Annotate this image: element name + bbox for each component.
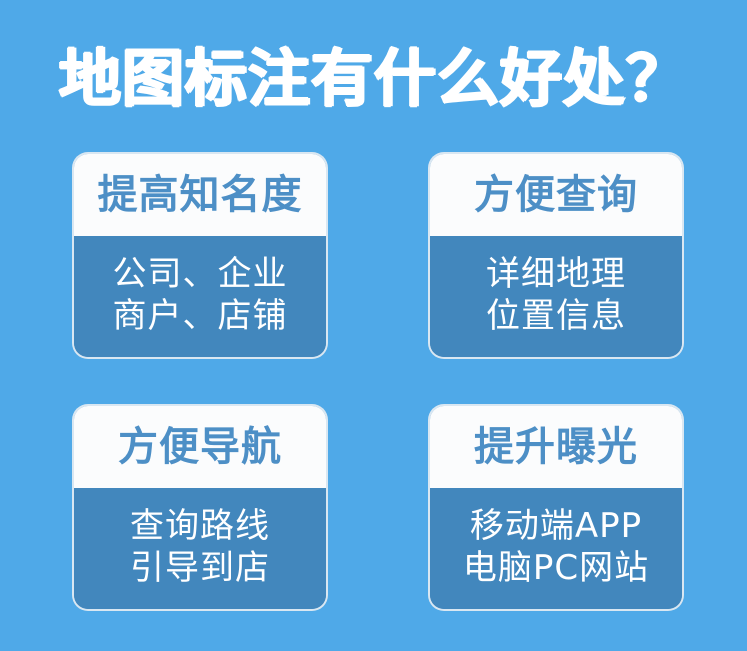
benefit-card-line: 电脑PC网站 xyxy=(463,547,649,589)
benefit-card-header: 提高知名度 xyxy=(74,154,326,236)
benefit-card-line: 公司、企业 xyxy=(113,253,288,295)
benefit-card-body: 查询路线 引导到店 xyxy=(74,488,326,609)
page-title: 地图标注有什么好处？ xyxy=(0,44,747,114)
benefit-card-easy-search[interactable]: 方便查询 详细地理 位置信息 xyxy=(428,152,684,359)
benefit-card-header: 提升曝光 xyxy=(430,406,682,488)
benefit-card-line: 查询路线 xyxy=(130,505,270,547)
benefit-card-line: 详细地理 xyxy=(486,253,626,295)
benefit-card-line: 引导到店 xyxy=(130,547,270,589)
benefit-card-body: 公司、企业 商户、店铺 xyxy=(74,236,326,357)
benefit-card-line: 位置信息 xyxy=(486,295,626,337)
promo-poster: 地图标注有什么好处？ 提高知名度 公司、企业 商户、店铺 方便查询 详细地理 位… xyxy=(0,0,747,651)
benefit-card-brand-awareness[interactable]: 提高知名度 公司、企业 商户、店铺 xyxy=(72,152,328,359)
benefit-card-easy-navigation[interactable]: 方便导航 查询路线 引导到店 xyxy=(72,404,328,611)
benefit-card-body: 移动端APP 电脑PC网站 xyxy=(430,488,682,609)
benefit-card-grid: 提高知名度 公司、企业 商户、店铺 方便查询 详细地理 位置信息 方便导航 查询… xyxy=(72,152,680,611)
benefit-card-body: 详细地理 位置信息 xyxy=(430,236,682,357)
benefit-card-line: 商户、店铺 xyxy=(113,295,288,337)
benefit-card-line: 移动端APP xyxy=(470,505,642,547)
benefit-card-header: 方便导航 xyxy=(74,406,326,488)
benefit-card-header: 方便查询 xyxy=(430,154,682,236)
benefit-card-more-exposure[interactable]: 提升曝光 移动端APP 电脑PC网站 xyxy=(428,404,684,611)
